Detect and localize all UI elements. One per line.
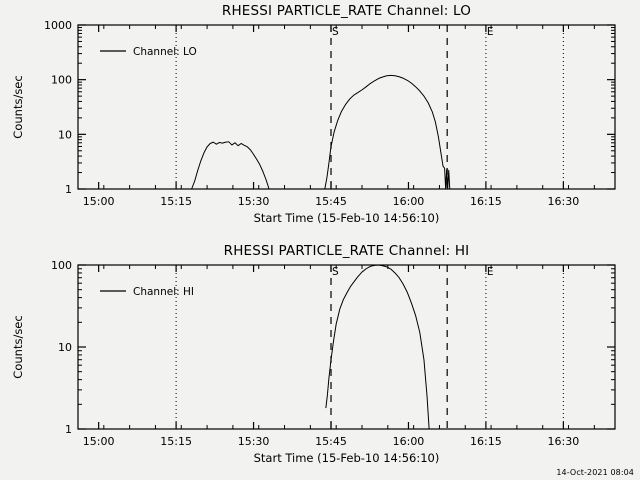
figure-canvas: RHESSI PARTICLE_RATE Channel: LOSE110100… bbox=[0, 0, 640, 480]
x-tick-label: 16:00 bbox=[393, 195, 425, 208]
plot-svg-lo: RHESSI PARTICLE_RATE Channel: LOSE110100… bbox=[0, 0, 640, 240]
event-marker-label: S bbox=[332, 266, 339, 278]
y-tick-label: 1 bbox=[65, 183, 72, 196]
y-tick-label: 1 bbox=[65, 423, 72, 436]
y-tick-label: 100 bbox=[51, 259, 72, 272]
y-tick-label: 10 bbox=[58, 341, 72, 354]
x-tick-label: 15:30 bbox=[238, 195, 270, 208]
y-tick-label: 100 bbox=[51, 74, 72, 87]
x-tick-label: 15:15 bbox=[160, 435, 192, 448]
x-tick-label: 16:15 bbox=[470, 195, 502, 208]
render-timestamp: 14-Oct-2021 08:04 bbox=[556, 468, 634, 477]
x-tick-label: 15:00 bbox=[83, 435, 115, 448]
legend-label: Channel: LO bbox=[133, 46, 197, 58]
x-axis-label: Start Time (15-Feb-10 14:56:10) bbox=[254, 451, 440, 465]
x-tick-label: 16:15 bbox=[470, 435, 502, 448]
y-axis-label: Counts/sec bbox=[11, 75, 25, 138]
x-tick-label: 15:30 bbox=[238, 435, 270, 448]
plot-panel-lo: RHESSI PARTICLE_RATE Channel: LOSE110100… bbox=[0, 0, 640, 240]
legend-label: Channel: HI bbox=[133, 286, 194, 298]
y-axis-label: Counts/sec bbox=[11, 315, 25, 378]
plot-svg-hi: RHESSI PARTICLE_RATE Channel: HISE110100… bbox=[0, 240, 640, 480]
plot-panel-hi: RHESSI PARTICLE_RATE Channel: HISE110100… bbox=[0, 240, 640, 480]
y-tick-label: 10 bbox=[58, 128, 72, 141]
x-tick-label: 15:15 bbox=[160, 195, 192, 208]
x-tick-label: 15:00 bbox=[83, 195, 115, 208]
plot-title: RHESSI PARTICLE_RATE Channel: HI bbox=[224, 243, 470, 259]
x-tick-label: 16:00 bbox=[393, 435, 425, 448]
x-axis-label: Start Time (15-Feb-10 14:56:10) bbox=[254, 211, 440, 225]
y-tick-label: 1000 bbox=[44, 19, 72, 32]
event-marker-label: E bbox=[487, 266, 494, 278]
x-tick-label: 15:45 bbox=[315, 435, 347, 448]
event-marker-label: S bbox=[332, 26, 339, 38]
x-tick-label: 16:30 bbox=[548, 435, 580, 448]
x-tick-label: 16:30 bbox=[548, 195, 580, 208]
plot-title: RHESSI PARTICLE_RATE Channel: LO bbox=[222, 3, 471, 19]
event-marker-label: E bbox=[487, 26, 494, 38]
x-tick-label: 15:45 bbox=[315, 195, 347, 208]
